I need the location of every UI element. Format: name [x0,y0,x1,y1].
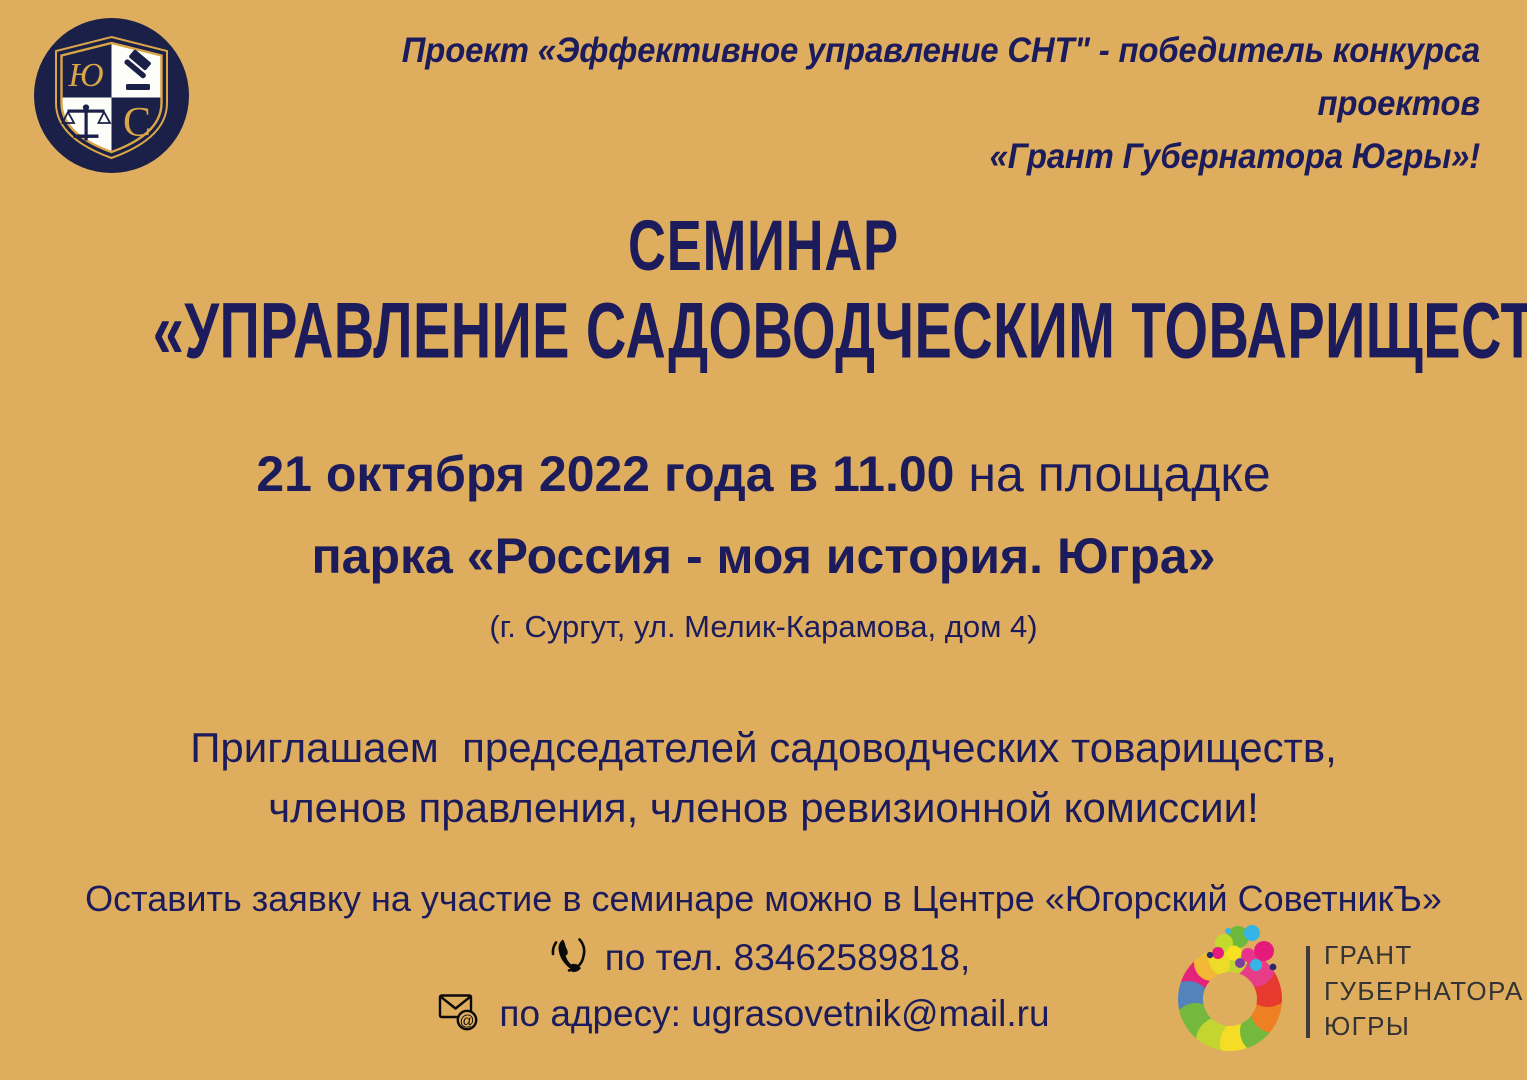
ugorsky-sovetnik-shield-logo: Ю С [34,18,189,173]
title-sub-line: «УПРАВЛЕНИЕ САДОВОДЧЕСКИМ ТОВАРИЩЕСТВОМ» [153,287,1375,375]
grant-logo-line-1: ГРАНТ [1324,938,1524,974]
event-date-strong: 21 октября 2022 года в 11.00 [256,446,954,502]
event-address: (г. Сургут, ул. Мелик-Карамова, дом 4) [0,606,1527,648]
contact-email-text[interactable]: по адресу: ugrasovetnik@mail.ru [499,993,1049,1035]
grant-logo-divider [1306,946,1310,1038]
phone-icon [547,934,589,981]
grant-logo-text: ГРАНТ ГУБЕРНАТОРА ЮГРЫ [1324,938,1524,1046]
grant-logo-line-3: ЮГРЫ [1324,1009,1524,1045]
grant-ring-icon [1168,923,1300,1060]
svg-text:С: С [123,100,151,146]
poster-header: Ю С [0,0,1527,190]
event-date-suffix: на площадке [954,446,1270,502]
contact-phone-text[interactable]: по тел. 83462589818, [605,937,971,979]
contact-lead-text: Оставить заявку на участие в семинаре мо… [0,878,1527,920]
title-main-line: СЕМИНАР [137,205,1389,287]
header-slogan-line-2: «Грант Губернатора Югры»! [277,130,1480,183]
email-at-icon: @ [437,989,483,1038]
event-date-line: 21 октября 2022 года в 11.00 на площадке [0,440,1527,508]
header-slogan-line-1: Проект «Эффективное управление СНТ" - по… [277,24,1480,130]
invitation-line-1: Приглашаем председателей садоводческих т… [0,718,1527,778]
event-datetime-venue: 21 октября 2022 года в 11.00 на площадке… [0,440,1527,648]
svg-text:Ю: Ю [67,57,103,94]
grant-gubernatora-ugry-logo: ГРАНТ ГУБЕРНАТОРА ЮГРЫ [1168,924,1488,1059]
poster-canvas: Ю С [0,0,1527,1080]
grant-logo-line-2: ГУБЕРНАТОРА [1324,974,1524,1010]
event-venue: парка «Россия - моя история. Югра» [0,522,1527,590]
header-slogan: Проект «Эффективное управление СНТ" - по… [277,24,1480,184]
invitation-text: Приглашаем председателей садоводческих т… [0,718,1527,837]
page-title: СЕМИНАР «УПРАВЛЕНИЕ САДОВОДЧЕСКИМ ТОВАРИ… [0,205,1527,365]
svg-text:@: @ [460,1013,475,1029]
invitation-line-2: членов правления, членов ревизионной ком… [0,778,1527,838]
